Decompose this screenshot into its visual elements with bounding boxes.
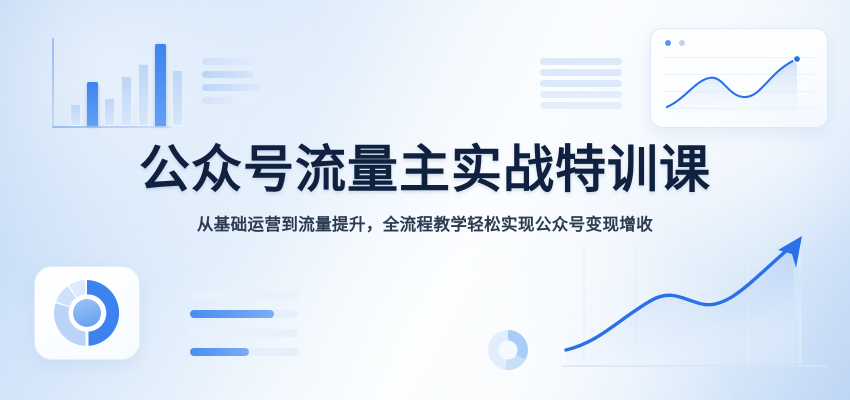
bar-chart-bar xyxy=(138,64,149,126)
course-promo-banner: 公众号流量主实战特训课 从基础运营到流量提升，全流程教学轻松实现公众号变现增收 xyxy=(0,0,850,400)
growth-area-svg xyxy=(556,228,836,388)
progress-row xyxy=(190,329,298,337)
bar-chart-bar xyxy=(121,76,132,126)
bar-chart-bar xyxy=(172,70,183,126)
progress-fill xyxy=(190,348,249,356)
placeholder-line xyxy=(540,58,622,65)
placeholder-line xyxy=(202,97,252,104)
placeholder-line xyxy=(202,71,254,78)
placeholder-line xyxy=(202,58,260,65)
line-chart-card xyxy=(650,28,828,128)
mini-donut-svg xyxy=(480,322,536,378)
card-area-fill xyxy=(667,59,797,114)
placeholder-line xyxy=(540,91,622,98)
progress-row xyxy=(190,310,298,318)
bar-chart-x-axis xyxy=(52,126,172,128)
bar-chart-bar xyxy=(87,82,98,126)
card-line-chart xyxy=(651,29,827,127)
progress-row xyxy=(190,348,298,356)
text-lines-midright xyxy=(540,58,630,106)
growth-area-chart xyxy=(556,228,836,388)
page-subtitle: 从基础运营到流量提升，全流程教学轻松实现公众号变现增收 xyxy=(0,211,850,235)
placeholder-line xyxy=(202,84,260,91)
title-block: 公众号流量主实战特训课 从基础运营到流量提升，全流程教学轻松实现公众号变现增收 xyxy=(0,142,850,235)
progress-row xyxy=(190,291,298,299)
bar-chart-bar xyxy=(104,98,115,126)
progress-fill xyxy=(190,310,274,318)
page-title: 公众号流量主实战特训课 xyxy=(0,142,850,197)
placeholder-line xyxy=(540,80,622,87)
donut-chart-card xyxy=(34,266,140,360)
bar-chart-bar xyxy=(70,104,81,126)
text-lines-topleft xyxy=(202,58,282,108)
bar-chart-decoration xyxy=(52,38,172,128)
placeholder-line xyxy=(540,69,622,76)
mini-donut-hole xyxy=(499,341,518,360)
bar-chart-y-axis xyxy=(52,38,54,126)
card-endpoint-dot xyxy=(793,55,800,62)
mini-donut-chart xyxy=(480,322,536,378)
donut-center-disc xyxy=(73,299,101,327)
progress-rows xyxy=(190,291,310,353)
placeholder-line xyxy=(540,102,622,109)
chart-primary-area xyxy=(566,244,794,364)
bar-chart-bar xyxy=(155,44,166,126)
donut-chart xyxy=(35,267,139,359)
